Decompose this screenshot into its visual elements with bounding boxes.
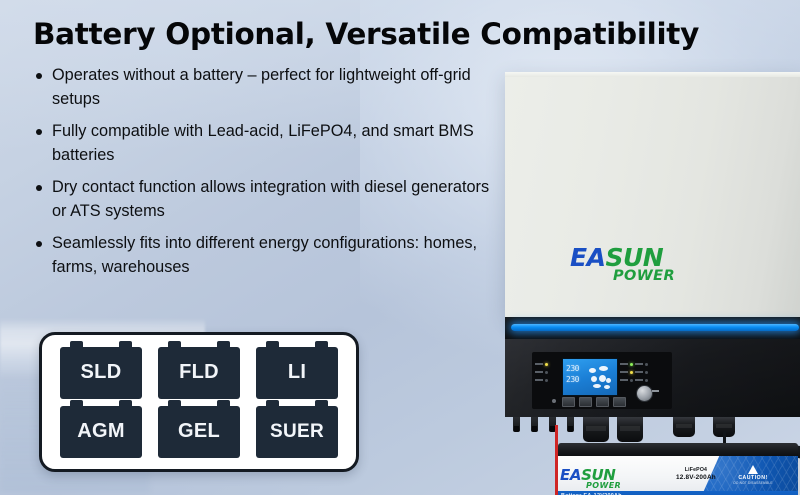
inverter-control-panel[interactable]: 230 230	[532, 352, 672, 409]
led-indicator	[545, 379, 548, 382]
lifepo4-battery-product: EASUN POWER LiFePO4 12.8V-200Ah CAUTION!…	[558, 443, 800, 495]
cable-gland	[673, 417, 695, 437]
battery-type-badge-li: LI	[256, 347, 338, 399]
battery-brand-logo: EASUN POWER	[560, 468, 621, 490]
brand-text-ea: EA	[560, 466, 581, 484]
feature-list: Operates without a battery – perfect for…	[30, 64, 498, 288]
list-item: Seamlessly fits into different energy co…	[30, 232, 498, 279]
led-label-dash	[635, 363, 643, 365]
battery-model-text: Battery EA-12V200Ah	[558, 491, 798, 495]
led-strip-indicator	[511, 324, 799, 331]
led-indicator-group-left	[535, 360, 559, 384]
lcd-left-value: 230	[566, 364, 579, 373]
led-row	[620, 360, 664, 368]
battery-type-label: LI	[288, 361, 306, 384]
led-indicator	[545, 363, 548, 366]
inverter-led-band	[505, 317, 800, 339]
cable-gland	[617, 417, 643, 442]
panel-button-3[interactable]	[596, 397, 609, 407]
led-label-dash	[635, 371, 643, 373]
pv-connector	[513, 417, 520, 432]
caution-subtitle: DO NOT DISASSEMBLE	[724, 481, 782, 486]
brand-tagline: POWER	[586, 482, 621, 490]
led-label-dash	[635, 379, 643, 381]
pv-connector	[531, 417, 538, 432]
led-label-dash	[535, 371, 543, 373]
caution-notice: CAUTION! DO NOT DISASSEMBLE	[724, 465, 782, 486]
pv-connector	[567, 417, 574, 432]
page-title: Battery Optional, Versatile Compatibilit…	[33, 17, 733, 51]
battery-type-label: FLD	[179, 361, 219, 384]
brand-text-ea: EA	[570, 243, 605, 272]
led-label-dash	[620, 379, 628, 381]
led-label-dash	[535, 363, 543, 365]
battery-spec-block: LiFePO4 12.8V-200Ah	[676, 467, 716, 482]
list-item: Operates without a battery – perfect for…	[30, 64, 498, 111]
panel-button-1[interactable]	[562, 397, 575, 407]
panel-button-row[interactable]	[562, 397, 626, 407]
led-indicator	[545, 371, 548, 374]
inverter-product-image: EASUN POWER	[505, 72, 800, 412]
battery-rating: 12.8V-200Ah	[676, 474, 716, 482]
battery-front-label: EASUN POWER LiFePO4 12.8V-200Ah CAUTION!…	[558, 456, 798, 495]
battery-type-label: AGM	[77, 420, 125, 443]
led-indicator	[630, 363, 633, 366]
led-row	[620, 376, 664, 384]
knob-label-dash	[652, 390, 659, 392]
led-indicator	[645, 363, 648, 366]
led-row	[620, 368, 664, 376]
inverter-lcd-display[interactable]: 230 230	[562, 358, 618, 396]
warning-triangle-icon	[748, 465, 758, 474]
battery-type-badge-sld: SLD	[60, 347, 142, 399]
battery-type-label: SLD	[81, 361, 122, 384]
battery-type-badge-suer: SUER	[256, 406, 338, 458]
battery-type-label: GEL	[178, 420, 220, 443]
led-indicator	[630, 379, 633, 382]
list-item: Dry contact function allows integration …	[30, 176, 498, 223]
battery-type-badge-gel: GEL	[158, 406, 240, 458]
led-label-dash	[620, 363, 628, 365]
power-knob[interactable]	[636, 385, 653, 402]
led-row	[535, 360, 559, 368]
cable-gland	[583, 417, 609, 442]
led-indicator	[645, 371, 648, 374]
list-item: Fully compatible with Lead-acid, LiFePO4…	[30, 120, 498, 167]
inverter-brand-logo: EASUN POWER	[570, 245, 675, 284]
led-row	[535, 368, 559, 376]
brand-tagline: POWER	[613, 269, 675, 284]
lcd-right-value: 230	[566, 375, 579, 384]
panel-status-dot	[552, 399, 556, 403]
lcd-flow-diagram-icon	[587, 366, 613, 390]
battery-type-badge-fld: FLD	[158, 347, 240, 399]
battery-type-badge-agm: AGM	[60, 406, 142, 458]
led-label-dash	[535, 379, 543, 381]
battery-type-label: SUER	[270, 421, 324, 443]
led-indicator	[645, 379, 648, 382]
led-indicator	[630, 371, 633, 374]
led-row	[535, 376, 559, 384]
panel-button-2[interactable]	[579, 397, 592, 407]
inverter-top-edge	[505, 72, 800, 77]
battery-top-cover	[558, 443, 798, 456]
led-label-dash	[620, 371, 628, 373]
panel-button-4[interactable]	[613, 397, 626, 407]
led-indicator-group-right	[620, 360, 664, 384]
promo-slide: Battery Optional, Versatile Compatibilit…	[0, 0, 800, 495]
battery-type-panel: SLD FLD LI AGM GEL SUER	[39, 332, 359, 472]
